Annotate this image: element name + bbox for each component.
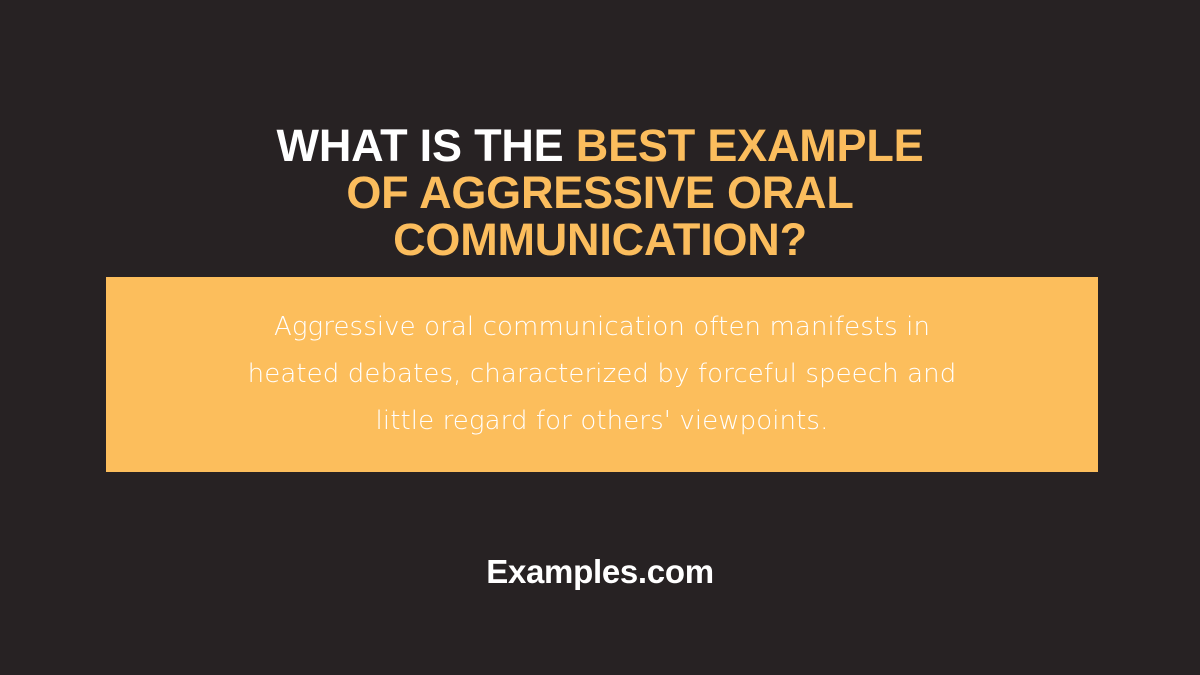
slide-canvas: WHAT IS THE BEST EXAMPLE OF AGGRESSIVE O…: [0, 0, 1200, 675]
body-line-1: Aggressive oral communication often mani…: [146, 304, 1058, 351]
headline-segment-white: WHAT IS THE: [277, 120, 576, 171]
body-callout-panel: Aggressive oral communication often mani…: [106, 277, 1098, 472]
brand-watermark: Examples.com: [0, 552, 1200, 592]
headline-line-1: WHAT IS THE BEST EXAMPLE: [0, 122, 1200, 169]
headline-line-3: COMMUNICATION?: [0, 216, 1200, 263]
body-line-3: little regard for others' viewpoints.: [146, 398, 1058, 445]
page-title: WHAT IS THE BEST EXAMPLE OF AGGRESSIVE O…: [0, 122, 1200, 263]
headline-segment-accent: BEST EXAMPLE: [576, 120, 924, 171]
body-text: Aggressive oral communication often mani…: [106, 304, 1098, 445]
headline-line-2: OF AGGRESSIVE ORAL: [0, 169, 1200, 216]
body-line-2: heated debates, characterized by forcefu…: [146, 351, 1058, 398]
